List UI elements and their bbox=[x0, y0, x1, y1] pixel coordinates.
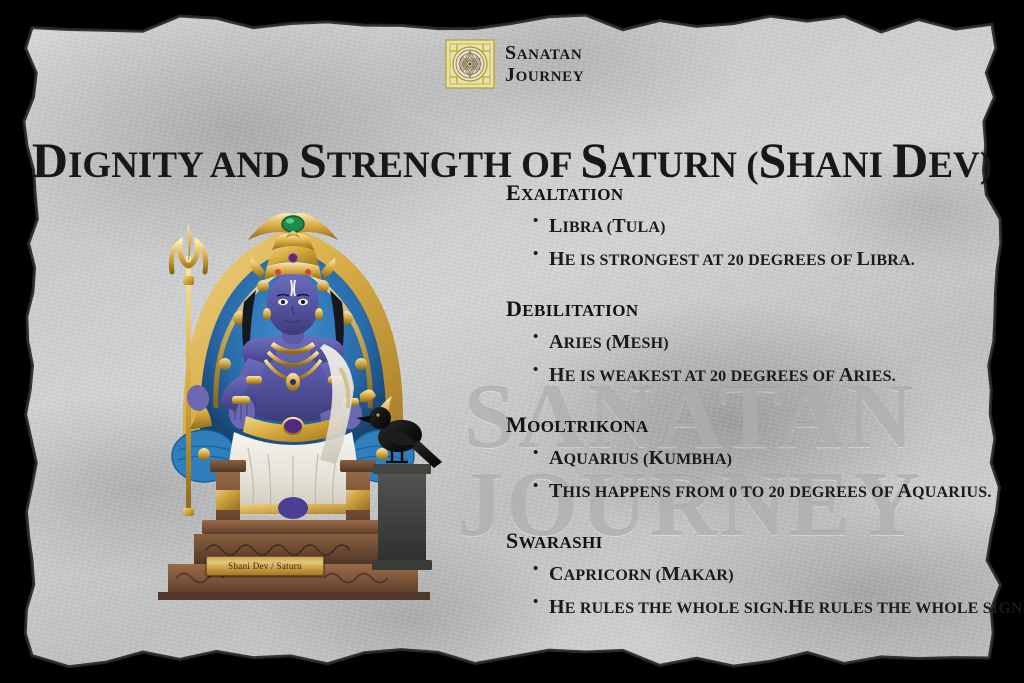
section-debilitation: DEBILITATION ARIES (MESH) HE IS WEAKEST … bbox=[506, 296, 946, 392]
shani-dev-illustration bbox=[128, 168, 458, 600]
brand-line-1: SANATAN bbox=[505, 43, 584, 63]
section-exaltation: EXALTATION LIBRA (TULA) HE IS STRONGEST … bbox=[506, 180, 946, 276]
sri-yantra-mandala-icon bbox=[444, 38, 496, 90]
poster-canvas: SANATAN JOURNEY bbox=[0, 0, 1024, 683]
bullet-list: AQUARIUS (KUMBHA) THIS HAPPENS FROM 0 TO… bbox=[506, 442, 946, 508]
content-column: EXALTATION LIBRA (TULA) HE IS STRONGEST … bbox=[506, 180, 946, 624]
list-item: THIS HAPPENS FROM 0 TO 20 DEGREES OF AQU… bbox=[533, 475, 946, 508]
list-item: CAPRICORN (MAKAR) bbox=[533, 558, 946, 591]
section-heading: SWARASHI bbox=[506, 528, 946, 554]
statue-nameplate: Shani Dev / Saturn bbox=[206, 556, 324, 576]
brand-line-2: JOURNEY bbox=[505, 65, 584, 85]
list-item: HE IS WEAKEST AT 20 DEGREES OF ARIES. bbox=[533, 359, 946, 392]
section-heading: DEBILITATION bbox=[506, 296, 946, 322]
list-item: LIBRA (TULA) bbox=[533, 210, 946, 243]
list-item: HE IS STRONGEST AT 20 DEGREES OF LIBRA. bbox=[533, 243, 946, 276]
list-item: HE RULES THE WHOLE SIGN.HE RULES THE WHO… bbox=[533, 591, 946, 624]
list-item: ARIES (MESH) bbox=[533, 326, 946, 359]
section-swarashi: SWARASHI CAPRICORN (MAKAR) HE RULES THE … bbox=[506, 528, 946, 624]
list-item: AQUARIUS (KUMBHA) bbox=[533, 442, 946, 475]
bullet-list: CAPRICORN (MAKAR) HE RULES THE WHOLE SIG… bbox=[506, 558, 946, 624]
brand-logo[interactable]: SANATAN JOURNEY bbox=[444, 38, 584, 90]
section-mooltrikona: MOOLTRIKONA AQUARIUS (KUMBHA) THIS HAPPE… bbox=[506, 412, 946, 508]
section-heading: EXALTATION bbox=[506, 180, 946, 206]
bullet-list: ARIES (MESH) HE IS WEAKEST AT 20 DEGREES… bbox=[506, 326, 946, 392]
section-heading: MOOLTRIKONA bbox=[506, 412, 946, 438]
bullet-list: LIBRA (TULA) HE IS STRONGEST AT 20 DEGRE… bbox=[506, 210, 946, 276]
